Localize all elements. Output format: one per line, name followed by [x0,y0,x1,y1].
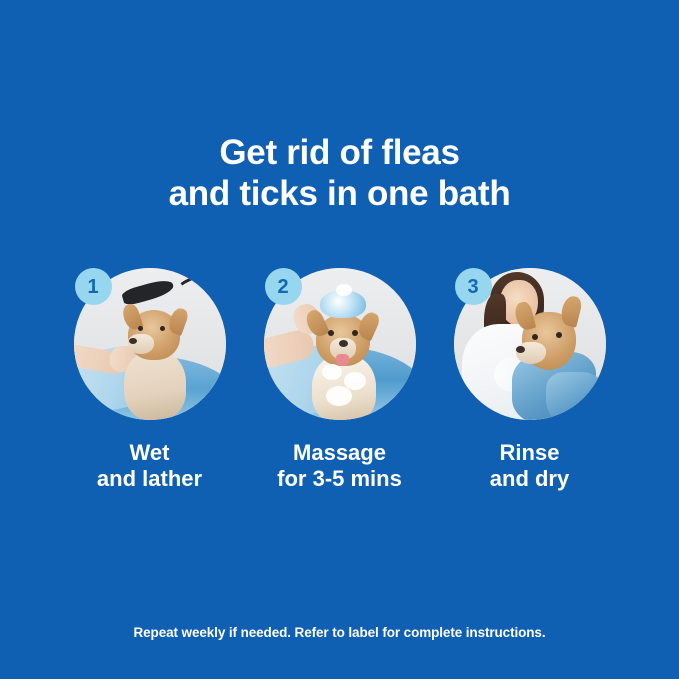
dog-tongue [336,354,349,366]
poster-canvas: Get rid of fleas and ticks in one bath [0,0,679,679]
step-item-1: 1 Wet and lather [55,268,245,492]
step-badge-1: 1 [75,268,112,305]
towel-fold [546,372,606,420]
step-3-circle: 3 [454,268,606,420]
step-2-caption-line-2: for 3-5 mins [277,466,402,492]
step-2-caption-line-1: Massage [277,440,402,466]
steps-row: 1 Wet and lather [0,268,679,492]
dog-eye-left [532,334,538,340]
page-title: Get rid of fleas and ticks in one bath [0,132,679,214]
step-3-caption-line-2: and dry [490,466,569,492]
step-1-circle: 1 [74,268,226,420]
step-1-caption: Wet and lather [97,440,202,492]
dog-nose [129,338,137,344]
dog-eye-right [556,332,562,338]
soap-foam-1 [322,364,342,380]
footer-note: Repeat weekly if needed. Refer to label … [0,625,679,640]
step-3-caption: Rinse and dry [490,440,569,492]
step-1-caption-line-2: and lather [97,466,202,492]
dog-body [124,350,186,420]
step-2-circle: 2 [264,268,416,420]
dog-snout [128,334,154,354]
dog-eye-left [138,326,143,331]
soap-foam-3 [326,386,352,406]
dog-eye-right [160,326,165,331]
step-badge-3: 3 [455,268,492,305]
step-2-caption: Massage for 3-5 mins [277,440,402,492]
dog-eye-left [328,330,334,336]
step-item-2: 2 Massage for 3-5 mins [245,268,435,492]
page-title-line-2: and ticks in one bath [0,173,679,214]
dog-nose [339,340,348,347]
step-3-caption-line-1: Rinse [490,440,569,466]
loofah-bubble [336,284,352,296]
page-title-line-1: Get rid of fleas [0,132,679,173]
step-badge-2: 2 [265,268,302,305]
dog-nose [516,346,525,353]
dog-eye-right [352,330,358,336]
step-1-caption-line-1: Wet [97,440,202,466]
step-item-3: 3 Rinse and dry [435,268,625,492]
